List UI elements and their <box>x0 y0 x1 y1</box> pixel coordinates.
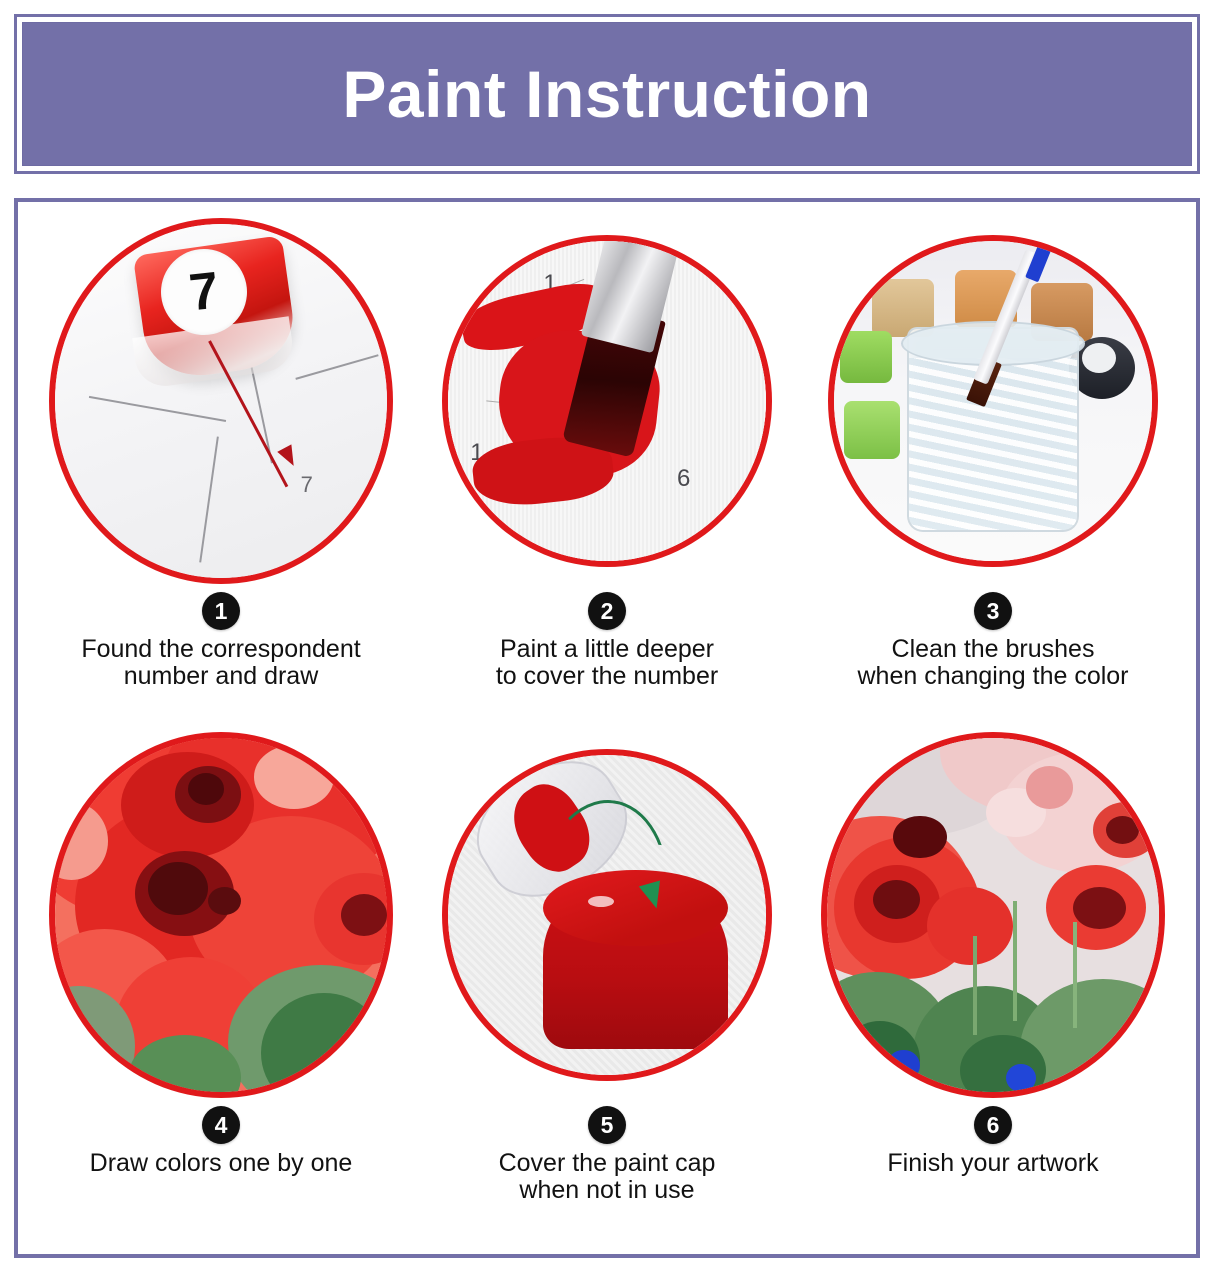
header-banner-inner: Paint Instruction <box>22 22 1192 166</box>
step-5: 5 Cover the paint cap when not in use <box>414 730 800 1244</box>
page-title: Paint Instruction <box>342 61 871 127</box>
canvas-region-number: 7 <box>301 472 313 498</box>
step-badge-6: 6 <box>974 1106 1012 1144</box>
header-banner: Paint Instruction <box>14 14 1200 174</box>
finished-poppy-field-artwork <box>827 738 1159 1092</box>
step-2: 1 1 5 1 1 6 2 <box>414 216 800 730</box>
step-6-photo-wrap <box>819 730 1167 1100</box>
step-4-photo-wrap <box>47 730 395 1100</box>
steps-panel: 7 7 1 Found the correspondent number and… <box>14 198 1200 1258</box>
canvas-number: 6 <box>677 465 690 493</box>
poppy-closeup-artwork <box>55 738 387 1092</box>
step-caption-1-line1: Found the correspondent <box>81 636 360 663</box>
step-2-photo-wrap: 1 1 5 1 1 6 <box>433 216 781 586</box>
step-1-photo: 7 7 <box>49 218 393 584</box>
step-caption-3-line1: Clean the brushes <box>857 636 1128 663</box>
step-caption-1-line2: number and draw <box>81 663 360 690</box>
step-caption-6-line1: Finish your artwork <box>887 1150 1098 1177</box>
step-3: 3 Clean the brushes when changing the co… <box>800 216 1186 730</box>
step-1: 7 7 1 Found the correspondent number and… <box>28 216 414 730</box>
step-caption-5: Cover the paint cap when not in use <box>499 1150 716 1204</box>
step-6: 6 Finish your artwork <box>800 730 1186 1244</box>
step-caption-5-line1: Cover the paint cap <box>499 1150 716 1177</box>
paint-instruction-infographic: Paint Instruction <box>0 0 1214 1280</box>
step-6-photo <box>821 732 1165 1098</box>
step-caption-4: Draw colors one by one <box>90 1150 353 1177</box>
step-4-photo <box>49 732 393 1098</box>
step-badge-4: 4 <box>202 1106 240 1144</box>
step-badge-3: 3 <box>974 592 1012 630</box>
step-4: 4 Draw colors one by one <box>28 730 414 1244</box>
step-caption-2-line2: to cover the number <box>496 663 718 690</box>
step-2-photo: 1 1 5 1 1 6 <box>442 235 772 567</box>
step-caption-2-line1: Paint a little deeper <box>496 636 718 663</box>
step-caption-3-line2: when changing the color <box>857 663 1128 690</box>
step-caption-5-line2: when not in use <box>499 1177 716 1204</box>
step-caption-6: Finish your artwork <box>887 1150 1098 1177</box>
step-5-photo-wrap <box>433 730 781 1100</box>
step-caption-2: Paint a little deeper to cover the numbe… <box>496 636 718 690</box>
paint-pot-numbered-scene: 7 7 <box>55 224 387 578</box>
steps-grid: 7 7 1 Found the correspondent number and… <box>28 216 1186 1244</box>
step-badge-5: 5 <box>588 1106 626 1144</box>
brush-painting-scene: 1 1 5 1 1 6 <box>448 241 766 561</box>
step-5-photo <box>442 749 772 1081</box>
step-3-photo-wrap <box>819 216 1167 586</box>
step-badge-1: 1 <box>202 592 240 630</box>
step-badge-2: 2 <box>588 592 626 630</box>
step-3-photo <box>828 235 1158 567</box>
brush-rinsing-scene <box>834 241 1152 561</box>
step-1-photo-wrap: 7 7 <box>47 216 395 586</box>
step-caption-1: Found the correspondent number and draw <box>81 636 360 690</box>
step-caption-4-line1: Draw colors one by one <box>90 1150 353 1177</box>
step-caption-3: Clean the brushes when changing the colo… <box>857 636 1128 690</box>
paint-pot-cap-scene <box>448 755 766 1075</box>
